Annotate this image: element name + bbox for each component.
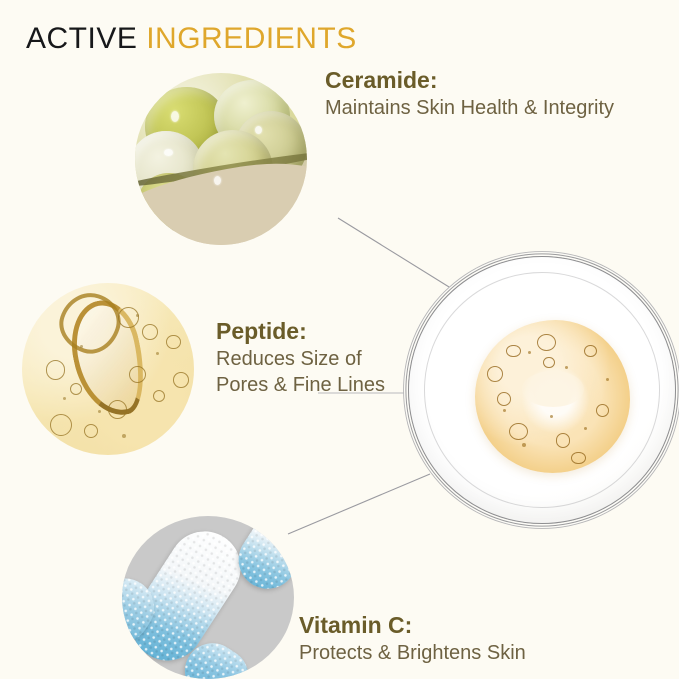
droplet-bubble [487, 366, 503, 382]
label-peptide: Peptide: Reduces Size of Pores & Fine Li… [216, 317, 385, 398]
serum-bubble [50, 414, 73, 437]
serum-bubble [166, 335, 180, 349]
ingredient-description-ceramide-line-1: Maintains Skin Health & Integrity [325, 95, 614, 121]
serum-bubble [84, 424, 98, 438]
droplet-bubble [506, 345, 520, 358]
droplet-bubble [497, 392, 511, 406]
droplet-speck [503, 409, 506, 412]
ingredient-heading-ceramide: Ceramide: [325, 66, 614, 95]
serum-speck [98, 410, 101, 413]
infographic-canvas: ACTIVE INGREDIENTS [0, 0, 679, 679]
serum-bubble [173, 372, 189, 388]
droplet-speck [550, 415, 553, 418]
droplet-center-highlight [522, 371, 584, 408]
ingredient-image-ceramide [135, 73, 307, 245]
capsule [227, 516, 294, 600]
serum-droplet [475, 320, 630, 473]
ingredient-image-vitamin-c [122, 516, 294, 679]
petri-dish-hero [408, 256, 676, 524]
droplet-speck [565, 366, 568, 369]
serum-bubble [118, 307, 139, 328]
droplet-bubble [537, 334, 556, 351]
bubble-highlight [164, 149, 173, 156]
droplet-bubble [596, 404, 609, 417]
ingredient-heading-peptide: Peptide: [216, 317, 385, 346]
serum-speck [122, 434, 126, 438]
serum-bubble [46, 360, 65, 379]
droplet-bubble [543, 357, 554, 368]
serum-bubble [153, 390, 165, 402]
ingredient-description-peptide-line-2: Pores & Fine Lines [216, 372, 385, 398]
serum-bubble [70, 383, 82, 395]
label-vitamin-c: Vitamin C: Protects & Brightens Skin [299, 611, 526, 666]
droplet-bubble [509, 423, 528, 440]
serum-speck [156, 352, 159, 355]
droplet-speck [584, 427, 587, 430]
label-ceramide: Ceramide: Maintains Skin Health & Integr… [325, 66, 614, 121]
serum-speck [63, 397, 66, 400]
ingredient-image-peptide [22, 283, 194, 455]
ingredient-heading-vitamin-c: Vitamin C: [299, 611, 526, 640]
bubble-highlight [171, 111, 179, 122]
serum-bubble [108, 400, 127, 419]
serum-bubble [142, 324, 158, 340]
droplet-bubble [556, 433, 570, 447]
serum-bubble [129, 366, 146, 383]
droplet-bubble [571, 452, 585, 465]
droplet-speck [522, 443, 526, 447]
serum-speck [136, 314, 139, 317]
ingredient-description-peptide-line-1: Reduces Size of [216, 346, 385, 372]
droplet-bubble [584, 345, 597, 358]
droplet-speck [606, 378, 609, 381]
droplet-speck [528, 351, 531, 354]
ingredient-description-vitamin-c-line-1: Protects & Brightens Skin [299, 640, 526, 666]
